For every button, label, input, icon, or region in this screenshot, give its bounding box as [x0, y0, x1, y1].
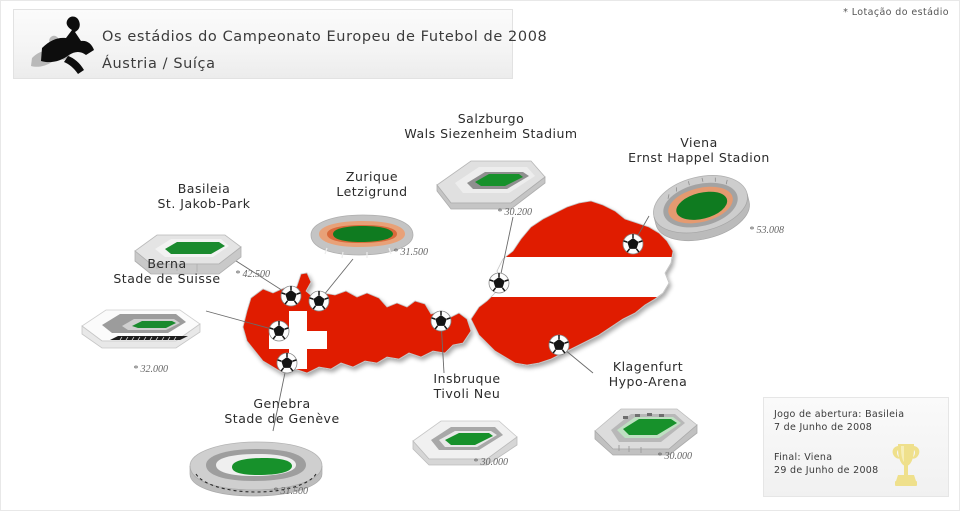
marker-klagenfurt — [549, 335, 569, 355]
stadium-label-zurique: Zurique Letzigrund — [307, 169, 437, 199]
stadium-art-viena — [649, 171, 753, 245]
stadium-basileia[interactable]: Basileia St. Jakob-Park * 42.500 — [119, 181, 289, 211]
marker-zurique — [309, 291, 329, 311]
stadium-viena[interactable]: Viena Ernst Happel Stadion * 53.008 — [609, 135, 789, 165]
final-match-date: 29 de Junho de 2008 — [774, 464, 878, 477]
stadium-city: Basileia — [178, 181, 231, 196]
stadium-venue: Stade de Genève — [187, 411, 377, 426]
country-switzerland — [231, 251, 491, 391]
stadium-venue: Hypo-Arena — [573, 374, 723, 389]
stadium-capacity-klagenfurt: * 30.000 — [657, 451, 692, 462]
stadium-capacity-insbruque: * 30.000 — [473, 457, 508, 468]
stadium-klagenfurt[interactable]: Klagenfurt Hypo-Arena * 30.000 — [573, 359, 723, 389]
stadium-label-berna: Berna Stade de Suisse — [77, 256, 257, 286]
final-match-label: Final: Viena — [774, 451, 878, 464]
final-match-block: Final: Viena 29 de Junho de 2008 — [774, 451, 878, 477]
stadium-zurique[interactable]: Zurique Letzigrund * 31.500 — [307, 169, 437, 199]
marker-genebra — [277, 353, 297, 373]
stadium-venue: Tivoli Neu — [397, 386, 537, 401]
stadium-venue: Stade de Suisse — [77, 271, 257, 286]
marker-basileia — [281, 286, 301, 306]
stadium-berna[interactable]: Berna Stade de Suisse * 32.000 — [77, 256, 257, 286]
stadium-label-genebra: Genebra Stade de Genève — [187, 396, 377, 426]
stadium-art-salzburgo — [431, 149, 551, 215]
stadium-insbruque[interactable]: Insbruque Tivoli Neu * 30.000 — [397, 371, 537, 401]
marker-berna — [269, 321, 289, 341]
stadium-art-berna — [76, 296, 206, 356]
infographic-canvas: Os estádios do Campeonato Europeu de Fut… — [0, 0, 960, 511]
stadium-label-basileia: Basileia St. Jakob-Park — [119, 181, 289, 211]
opening-match-label: Jogo de abertura: Basileia — [774, 408, 904, 421]
stadium-city: Zurique — [346, 169, 398, 184]
info-box: Jogo de abertura: Basileia 7 de Junho de… — [763, 397, 949, 497]
stadium-genebra[interactable]: Genebra Stade de Genève * 31.500 — [187, 396, 377, 426]
stadium-capacity-salzburgo: * 30.200 — [497, 207, 532, 218]
stadium-venue: St. Jakob-Park — [119, 196, 289, 211]
opening-match-date: 7 de Junho de 2008 — [774, 421, 904, 434]
trophy-cup-icon — [886, 440, 926, 492]
stadium-venue: Letzigrund — [307, 184, 437, 199]
stadium-city: Viena — [680, 135, 718, 150]
stadium-label-insbruque: Insbruque Tivoli Neu — [397, 371, 537, 401]
stadium-salzburgo[interactable]: Salzburgo Wals Siezenheim Stadium * 30.2… — [401, 111, 581, 141]
stadium-city: Klagenfurt — [613, 359, 683, 374]
opening-match-block: Jogo de abertura: Basileia 7 de Junho de… — [774, 408, 904, 434]
stadium-capacity-berna: * 32.000 — [133, 364, 168, 375]
stadium-city: Salzburgo — [458, 111, 525, 126]
stadium-label-viena: Viena Ernst Happel Stadion — [609, 135, 789, 165]
stadium-capacity-genebra: * 31.500 — [273, 486, 308, 497]
stadium-venue: Wals Siezenheim Stadium — [401, 126, 581, 141]
stadium-label-klagenfurt: Klagenfurt Hypo-Arena — [573, 359, 723, 389]
stadium-city: Insbruque — [433, 371, 500, 386]
marker-viena — [623, 234, 643, 254]
stadium-capacity-zurique: * 31.500 — [393, 247, 428, 258]
stadium-city: Genebra — [253, 396, 310, 411]
marker-insbruque — [431, 311, 451, 331]
stadium-label-salzburgo: Salzburgo Wals Siezenheim Stadium — [401, 111, 581, 141]
stadium-capacity-viena: * 53.008 — [749, 225, 784, 236]
marker-salzburgo — [489, 273, 509, 293]
stadium-venue: Ernst Happel Stadion — [609, 150, 789, 165]
stadium-city: Berna — [147, 256, 186, 271]
